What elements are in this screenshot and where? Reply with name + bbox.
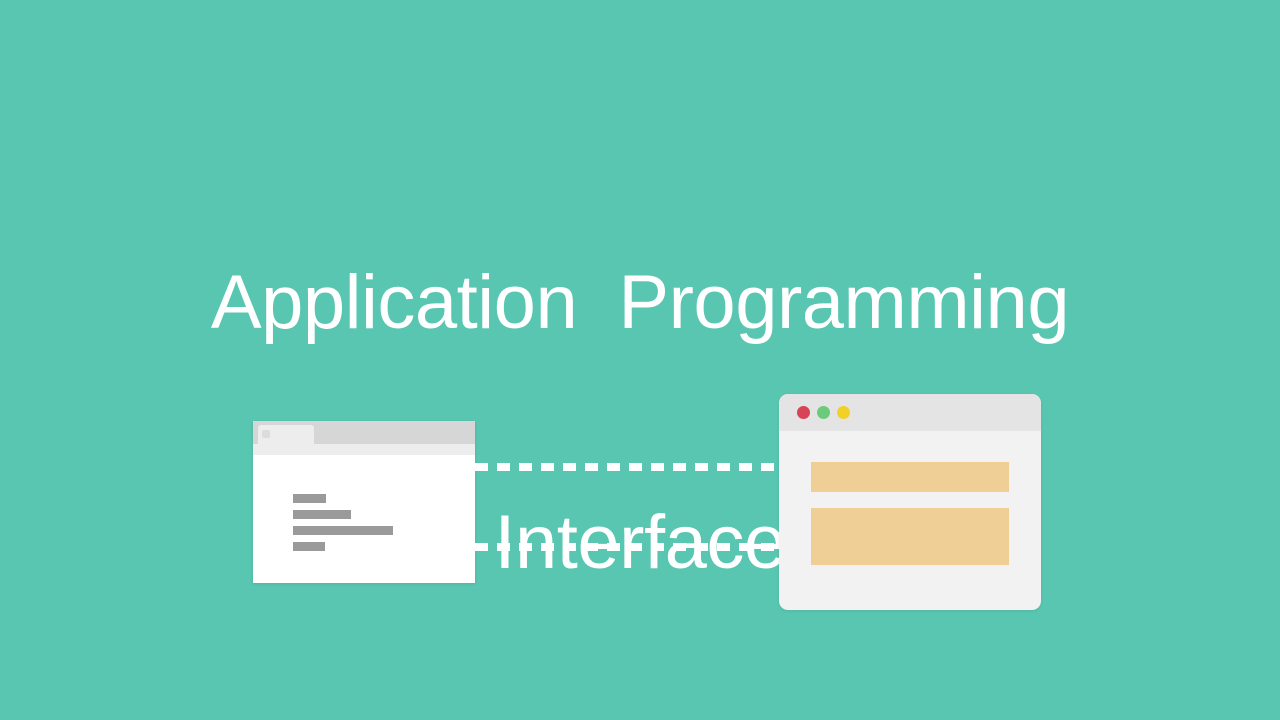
content-line	[293, 542, 325, 551]
minimize-button-icon[interactable]	[817, 406, 830, 419]
right-window	[779, 394, 1041, 610]
left-window-body	[253, 455, 475, 583]
content-line	[293, 510, 351, 519]
content-panel	[811, 462, 1009, 492]
connector-bottom	[475, 543, 779, 551]
maximize-button-icon[interactable]	[837, 406, 850, 419]
tab-favicon-icon	[262, 430, 270, 438]
connector-top	[475, 463, 779, 471]
page-title-line-1: Application Programming	[0, 263, 1280, 343]
left-window	[253, 421, 475, 583]
content-panel	[811, 508, 1009, 565]
slide-canvas: Application Programming Interface	[0, 0, 1280, 720]
close-button-icon[interactable]	[797, 406, 810, 419]
left-window-titlebar	[253, 421, 475, 444]
page-title: Application Programming Interface	[0, 103, 1280, 720]
content-line	[293, 494, 326, 503]
right-window-titlebar	[779, 394, 1041, 431]
content-line	[293, 526, 393, 535]
left-window-tab[interactable]	[258, 425, 314, 444]
left-window-toolbar	[253, 444, 475, 455]
